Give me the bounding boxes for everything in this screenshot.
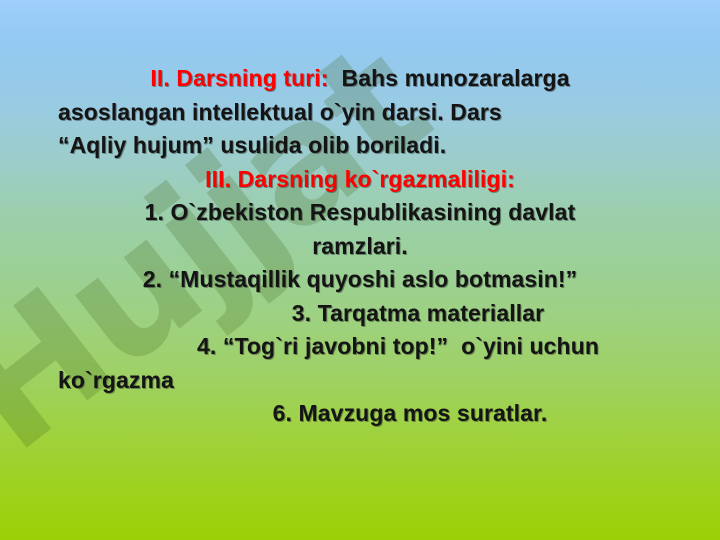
line-9-segment-1: 4. “Tog`ri javobni top!” o`yini uchun — [197, 333, 599, 359]
line-3: “Aqliy hujum” usulida olib boriladi. — [58, 129, 662, 163]
line-8: 3. Tarqatma materiallar — [58, 297, 662, 331]
line-5: 1. O`zbekiston Respublikasining davlat — [58, 196, 662, 230]
line-6-segment-1: ramzlari. — [312, 233, 408, 259]
line-1-segment-1: II. Darsning turi: — [150, 65, 328, 91]
line-5-segment-1: 1. O`zbekiston Respublikasining davlat — [145, 199, 576, 225]
line-6: ramzlari. — [58, 230, 662, 264]
line-10-segment-1: ko`rgazma — [58, 367, 174, 393]
slide-canvas: Hujjat II. Darsning turi: Bahs munozaral… — [0, 0, 720, 540]
line-2-segment-1: asoslangan intellektual o`yin darsi. Dar… — [58, 99, 502, 125]
line-7-segment-1: 2. “Mustaqillik quyoshi aslo botmasin!” — [143, 266, 578, 292]
line-11-segment-1: 6. Mavzuga mos suratlar. — [273, 400, 548, 426]
line-8-segment-1: 3. Tarqatma materiallar — [292, 300, 544, 326]
line-2: asoslangan intellektual o`yin darsi. Dar… — [58, 96, 662, 130]
slide-text-body: II. Darsning turi: Bahs munozaralargaaso… — [58, 62, 662, 431]
line-11: 6. Mavzuga mos suratlar. — [58, 397, 662, 431]
line-3-segment-1: “Aqliy hujum” usulida olib boriladi. — [58, 132, 446, 158]
line-1: II. Darsning turi: Bahs munozaralarga — [58, 62, 662, 96]
line-1-segment-2: Bahs munozaralarga — [329, 65, 570, 91]
line-10: ko`rgazma — [58, 364, 662, 398]
line-4-segment-1: III. Darsning ko`rgazmaliligi: — [205, 166, 515, 192]
line-7: 2. “Mustaqillik quyoshi aslo botmasin!” — [58, 263, 662, 297]
line-9: 4. “Tog`ri javobni top!” o`yini uchun — [58, 330, 662, 364]
line-4: III. Darsning ko`rgazmaliligi: — [58, 163, 662, 197]
